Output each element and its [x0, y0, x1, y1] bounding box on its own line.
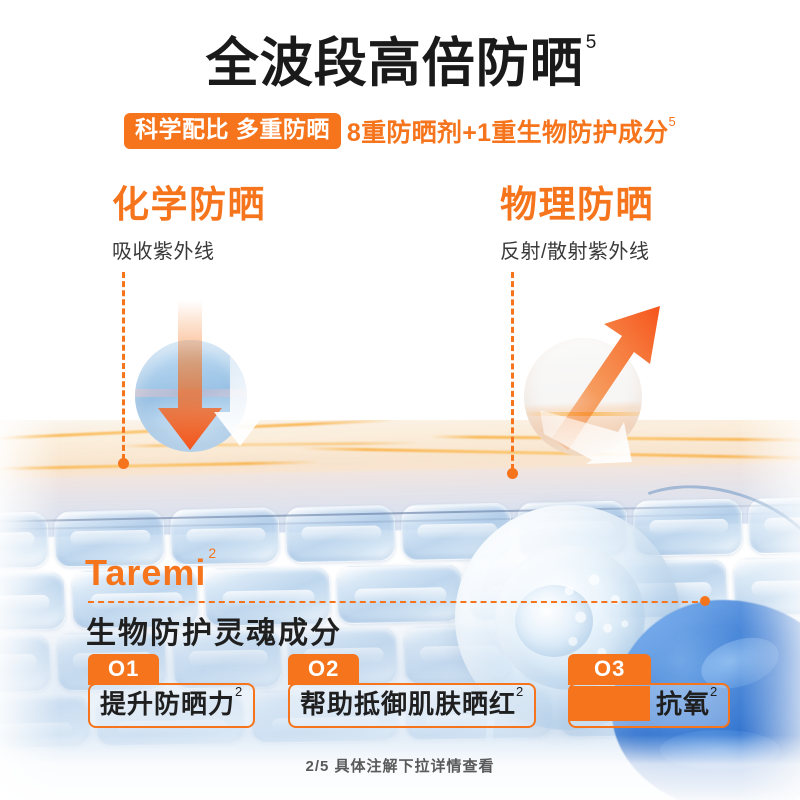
formula-description-superscript: 5: [668, 114, 676, 129]
ingredient-benefit-3-number: O3: [568, 654, 651, 685]
ingredient-benefit-2[interactable]: O2 帮助抵御肌肤晒红2: [288, 654, 536, 728]
ingredient-benefit-3-text: 抗氧: [656, 689, 710, 719]
membrane-line: [0, 503, 800, 523]
page-indicator-caption: 2/5 具体注解下拉详情查看: [0, 755, 800, 776]
subtitle-row: 科学配比 多重防晒 8重防晒剂+1重生物防护成分5: [0, 113, 800, 149]
skin-surface-highlight: [0, 395, 800, 490]
ingredient-benefit-1-text: 提升防晒力: [100, 689, 235, 719]
page-title: 全波段高倍防晒5: [0, 34, 800, 93]
ingredient-benefit-3-accent-block: [570, 686, 650, 721]
ingredient-benefit-2-superscript: 2: [516, 684, 524, 699]
formula-badge: 科学配比 多重防晒: [124, 113, 341, 148]
cell-membrane-arc: [582, 457, 800, 678]
formula-description-text: 8重防晒剂+1重生物防护成分: [347, 119, 669, 147]
ingredient-benefit-1-superscript: 2: [235, 684, 243, 699]
product-detail-page: 全波段高倍防晒5 科学配比 多重防晒 8重防晒剂+1重生物防护成分5 化学防晒 …: [0, 0, 800, 800]
arrow-down-right-white-icon: [540, 388, 636, 471]
brand-name-superscript: 2: [208, 545, 217, 561]
ingredient-benefit-1-label: 提升防晒力2: [88, 683, 255, 728]
brand-ingredient-block: Taremi2: [85, 555, 215, 591]
left-vignette: [0, 400, 60, 800]
page-title-superscript: 5: [586, 32, 597, 53]
physical-connector-line: [511, 272, 514, 470]
brand-name: Taremi2: [85, 555, 215, 591]
chemical-connector-dot: [118, 458, 129, 469]
ingredient-benefit-2-text: 帮助抵御肌肤晒红: [300, 689, 516, 719]
ingredient-benefit-3-superscript: 2: [710, 684, 718, 699]
skin-contour-line: [0, 461, 320, 471]
ingredient-benefit-2-number: O2: [288, 654, 359, 685]
brand-divider-dashed: [88, 601, 708, 603]
feature-physical: 物理防晒 反射/散射紫外线: [500, 183, 800, 264]
ingredient-benefit-1[interactable]: O1 提升防晒力2: [88, 654, 255, 728]
page-title-text: 全波段高倍防晒: [206, 34, 584, 93]
chemical-connector-line: [122, 272, 125, 460]
ingredient-benefit-3[interactable]: O3 抗氧2: [568, 654, 730, 728]
physical-connector-dot: [507, 468, 518, 479]
ingredient-benefit-1-number: O1: [88, 654, 159, 685]
skin-surface-layer: [0, 388, 800, 522]
ingredient-heading: 生物防护灵魂成分: [86, 608, 342, 652]
brand-name-text: Taremi: [85, 552, 206, 593]
right-vignette: [740, 400, 800, 800]
arrow-down-white-icon: [210, 330, 270, 453]
feature-chemical-subtitle: 吸收紫外线: [112, 235, 412, 264]
membrane-line: [0, 511, 800, 531]
feature-chemical-title: 化学防晒: [112, 183, 412, 227]
brand-divider-dot: [700, 596, 710, 606]
feature-physical-subtitle: 反射/散射紫外线: [500, 235, 800, 264]
ingredient-benefit-2-label: 帮助抵御肌肤晒红2: [288, 683, 536, 728]
dermis-band: [0, 462, 800, 539]
feature-chemical: 化学防晒 吸收紫外线: [112, 183, 412, 264]
large-cell-nucleus: [515, 585, 593, 657]
formula-description: 8重防晒剂+1重生物防护成分5: [347, 113, 676, 149]
feature-physical-title: 物理防晒: [500, 183, 800, 227]
